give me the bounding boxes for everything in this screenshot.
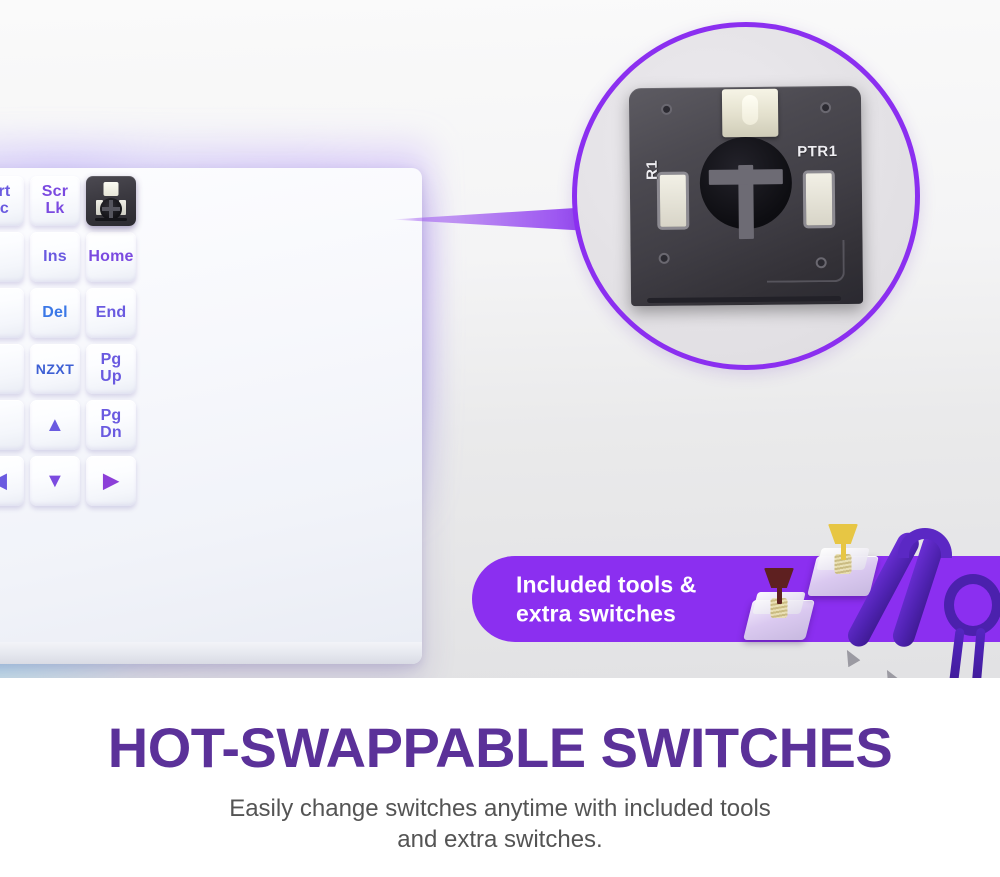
keycap-end[interactable]: End <box>86 288 136 338</box>
keycap-[interactable]: ◀ <box>0 456 24 506</box>
switch-socket-pcb: R1 PTR1 <box>629 86 863 306</box>
product-feature-image: 11F12F13Prt ScScr Lk—= +←InsHome[ {] }\ … <box>0 0 1000 877</box>
keycap-[interactable]: ▲ <box>30 400 80 450</box>
keycap-legend: Scr Lk <box>32 184 78 218</box>
switch-stem <box>772 578 786 610</box>
keycap-[interactable]: ⬆ <box>0 400 24 450</box>
socket-bottom-bar <box>95 218 127 221</box>
keycap-[interactable]: ▶ <box>86 456 136 506</box>
cross-stem-horizontal <box>709 169 783 185</box>
keycap-puller-ring <box>944 574 1000 636</box>
keycap-prt-sc[interactable]: Prt Sc <box>0 176 24 226</box>
switch-housing-hole <box>699 136 792 229</box>
page-title: HOT-SWAPPABLE SWITCHES <box>0 720 1000 776</box>
banner-label: Included tools & extra switches <box>516 570 697 627</box>
pcb-via <box>822 104 829 111</box>
keycap-ins[interactable]: Ins <box>30 232 80 282</box>
page-subtitle: Easily change switches anytime with incl… <box>0 794 1000 855</box>
socket-led <box>104 182 119 196</box>
pcb-via <box>818 259 825 266</box>
keycap-legend: Del <box>42 305 68 322</box>
silkscreen-label-ptr1: PTR1 <box>797 143 838 160</box>
keycap-legend: ▲ <box>45 415 65 435</box>
socket-pin-right <box>806 173 833 225</box>
keycap-puller-tool <box>932 574 1000 678</box>
keycap-legend: ◀ <box>0 471 7 491</box>
keycap-legend: Pg Up <box>88 352 134 386</box>
puller-metal-tip <box>842 650 862 670</box>
extra-switch-brown <box>748 582 810 640</box>
keycap-legend: ▼ <box>45 471 65 491</box>
keycap-home[interactable]: Home <box>86 232 136 282</box>
keycap-[interactable]: \ | <box>0 288 24 338</box>
keyboard: 11F12F13Prt ScScr Lk—= +←InsHome[ {] }\ … <box>0 168 430 676</box>
smd-led <box>722 89 778 138</box>
socket-center-hole <box>100 198 122 220</box>
keycap-legend: End <box>96 305 127 322</box>
keycap-legend: NZXT <box>36 362 75 377</box>
puller-metal-tip <box>882 670 902 678</box>
pcb-bottom-edge <box>647 296 841 303</box>
keycap-legend: Pg Dn <box>88 408 134 442</box>
product-photo: 11F12F13Prt ScScr Lk—= +←InsHome[ {] }\ … <box>0 0 1000 678</box>
hot-swap-socket-closeup: R1 PTR1 <box>572 22 920 370</box>
silkscreen-label-r1: R1 <box>644 159 661 179</box>
pcb-trace <box>766 240 844 283</box>
keycap-pg-dn[interactable]: Pg Dn <box>86 400 136 450</box>
keycap-nzxt[interactable]: NZXT <box>30 344 80 394</box>
pcb-via <box>663 106 670 113</box>
socket-pin-left <box>660 175 687 227</box>
keycap-[interactable]: ↵ <box>0 344 24 394</box>
keycap-scr-lk[interactable]: Scr Lk <box>30 176 80 226</box>
keycap-pg-up[interactable]: Pg Up <box>86 344 136 394</box>
keycap-grid: 11F12F13Prt ScScr Lk—= +←InsHome[ {] }\ … <box>0 168 422 664</box>
accessories-group <box>740 524 1000 678</box>
keycap-legend: Ins <box>43 249 67 266</box>
pcb-via <box>661 255 668 262</box>
stem-cross-horizontal <box>772 581 786 586</box>
hot-swap-empty-socket-key[interactable] <box>86 176 136 226</box>
caption-block: HOT-SWAPPABLE SWITCHES Easily change swi… <box>0 678 1000 877</box>
keycap-legend: ▶ <box>103 471 119 491</box>
keycap-legend: Prt Sc <box>0 184 22 218</box>
keycap-puller-leg <box>948 628 964 678</box>
keycap-[interactable]: ← <box>0 232 24 282</box>
keycap-legend: Home <box>88 249 133 266</box>
keycap-del[interactable]: Del <box>30 288 80 338</box>
keycap-[interactable]: ▼ <box>30 456 80 506</box>
